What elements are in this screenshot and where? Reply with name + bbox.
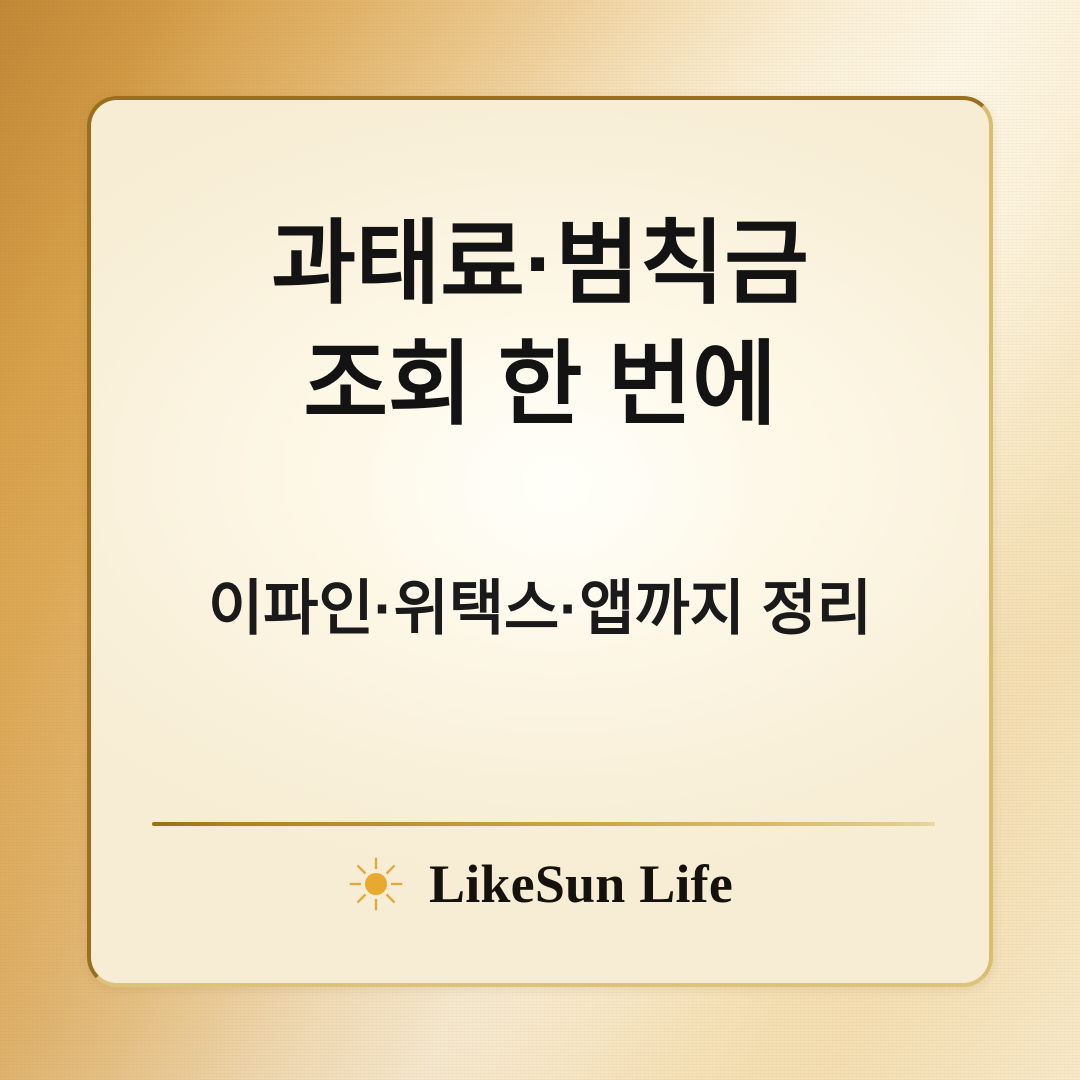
- brand-lockup: LikeSun Life: [91, 855, 989, 913]
- sun-icon: [347, 855, 405, 913]
- content-card: 과태료·범칙금 조회 한 번에 이파인·위택스·앱까지 정리: [87, 96, 993, 987]
- section-divider: [152, 822, 935, 826]
- poster-canvas: 과태료·범칙금 조회 한 번에 이파인·위택스·앱까지 정리: [0, 0, 1080, 1080]
- subtitle: 이파인·위택스·앱까지 정리: [208, 571, 872, 646]
- card-content: 과태료·범칙금 조회 한 번에 이파인·위택스·앱까지 정리: [91, 100, 989, 983]
- headline-line-1: 과태료·범칙금: [91, 204, 989, 325]
- headline-line-2: 조회 한 번에: [91, 325, 989, 446]
- page-title: 과태료·범칙금 조회 한 번에: [91, 204, 989, 447]
- brand-name: LikeSun Life: [429, 857, 733, 911]
